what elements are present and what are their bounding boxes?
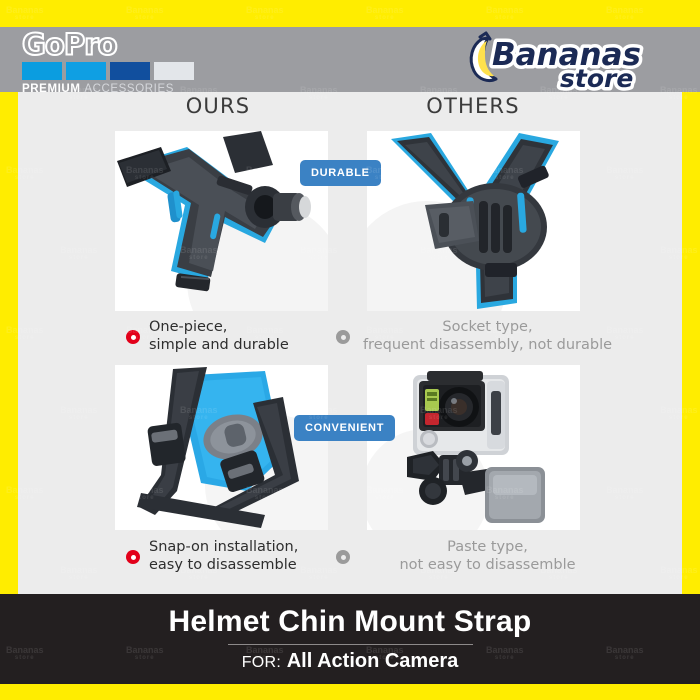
watermark-tile: Bananasstore xyxy=(126,6,164,21)
watermark-tile: Bananasstore xyxy=(6,6,44,21)
product-title: Helmet Chin Mount Strap xyxy=(169,607,532,637)
badge-convenient: CONVENIENT xyxy=(294,415,395,441)
red-dot-bullet xyxy=(126,330,140,344)
footer-bar: Helmet Chin Mount Strap FOR: All Action … xyxy=(0,594,700,684)
watermark-tile: Bananasstore xyxy=(366,6,404,21)
caption-line-1: Socket type, xyxy=(442,319,532,335)
tagline-accessories: ACCESSORIES xyxy=(84,83,174,95)
product-infographic: GoPro PREMIUM ACCESSORIES B xyxy=(0,0,700,700)
brand-tagline: PREMIUM ACCESSORIES xyxy=(22,83,202,95)
caption-line-1: Snap-on installation, xyxy=(149,539,298,555)
caption-line-2: frequent disassembly, not durable xyxy=(363,337,612,353)
caption-others-row2: Paste type, not easy to disassemble xyxy=(336,534,616,580)
red-dot-bullet xyxy=(126,550,140,564)
caption-line-2: simple and durable xyxy=(149,337,289,353)
for-label: FOR: xyxy=(242,654,281,671)
caption-line-2: not easy to disassemble xyxy=(399,557,575,573)
watermark-tile: Bananasstore xyxy=(486,6,524,21)
caption-line-1: One-piece, xyxy=(149,319,227,335)
product-compatibility: FOR: All Action Camera xyxy=(242,651,459,671)
caption-text: Socket type, frequent disassembly, not d… xyxy=(359,319,616,354)
gray-dot-bullet xyxy=(336,550,350,564)
svg-text:GoPro: GoPro xyxy=(22,30,117,60)
caption-text: Paste type, not easy to disassemble xyxy=(359,539,616,574)
column-headers: OURS OTHERS xyxy=(18,92,682,130)
caption-ours-row1: One-piece, simple and durable xyxy=(126,314,341,360)
photo-chin-mount-one-piece xyxy=(115,131,328,311)
caption-line-1: Paste type, xyxy=(447,539,528,555)
chin-mount-one-piece-illustration xyxy=(115,131,328,311)
badge-durable: DURABLE xyxy=(300,160,381,186)
adhesive-pad xyxy=(485,467,545,523)
tagline-premium: PREMIUM xyxy=(22,83,81,95)
logo-line2: store xyxy=(560,64,633,91)
buckle-left xyxy=(147,422,186,466)
header-bar: GoPro PREMIUM ACCESSORIES B xyxy=(0,27,700,92)
socket-type-strap-illustration xyxy=(367,131,580,311)
swatch-2 xyxy=(66,62,106,80)
column-header-others: OTHERS xyxy=(358,94,588,118)
photo-socket-type-strap xyxy=(367,131,580,311)
gopro-wordmark: GoPro xyxy=(22,30,180,60)
caption-line-2: easy to disassemble xyxy=(149,557,297,573)
bananas-store-logo: Bananas Bananas store store xyxy=(452,29,682,91)
caption-text: One-piece, simple and durable xyxy=(149,319,289,354)
gray-dot-bullet xyxy=(336,330,350,344)
footer-divider xyxy=(228,644,473,645)
swatch-1 xyxy=(22,62,62,80)
swatch-4 xyxy=(154,62,194,80)
caption-text: Snap-on installation, easy to disassembl… xyxy=(149,539,298,574)
photo-adhesive-paste-mount-camera xyxy=(367,365,580,530)
gopro-brand-block: GoPro PREMIUM ACCESSORIES xyxy=(22,30,202,95)
caption-ours-row2: Snap-on installation, easy to disassembl… xyxy=(126,534,341,580)
column-header-ours: OURS xyxy=(118,94,318,118)
bananas-store-logo-svg: Bananas Bananas store store xyxy=(452,29,682,91)
watermark-tile: Bananasstore xyxy=(246,6,284,21)
snap-on-chin-strap-illustration xyxy=(115,365,328,530)
adhesive-paste-mount-camera-illustration xyxy=(367,365,580,530)
brand-color-swatches xyxy=(22,62,202,80)
watermark-tile: Bananasstore xyxy=(606,6,644,21)
swatch-3 xyxy=(110,62,150,80)
caption-others-row1: Socket type, frequent disassembly, not d… xyxy=(336,314,616,360)
photo-snap-on-chin-strap xyxy=(115,365,328,530)
camera-housing xyxy=(413,371,509,455)
compatibility-model: All Action Camera xyxy=(287,650,459,672)
